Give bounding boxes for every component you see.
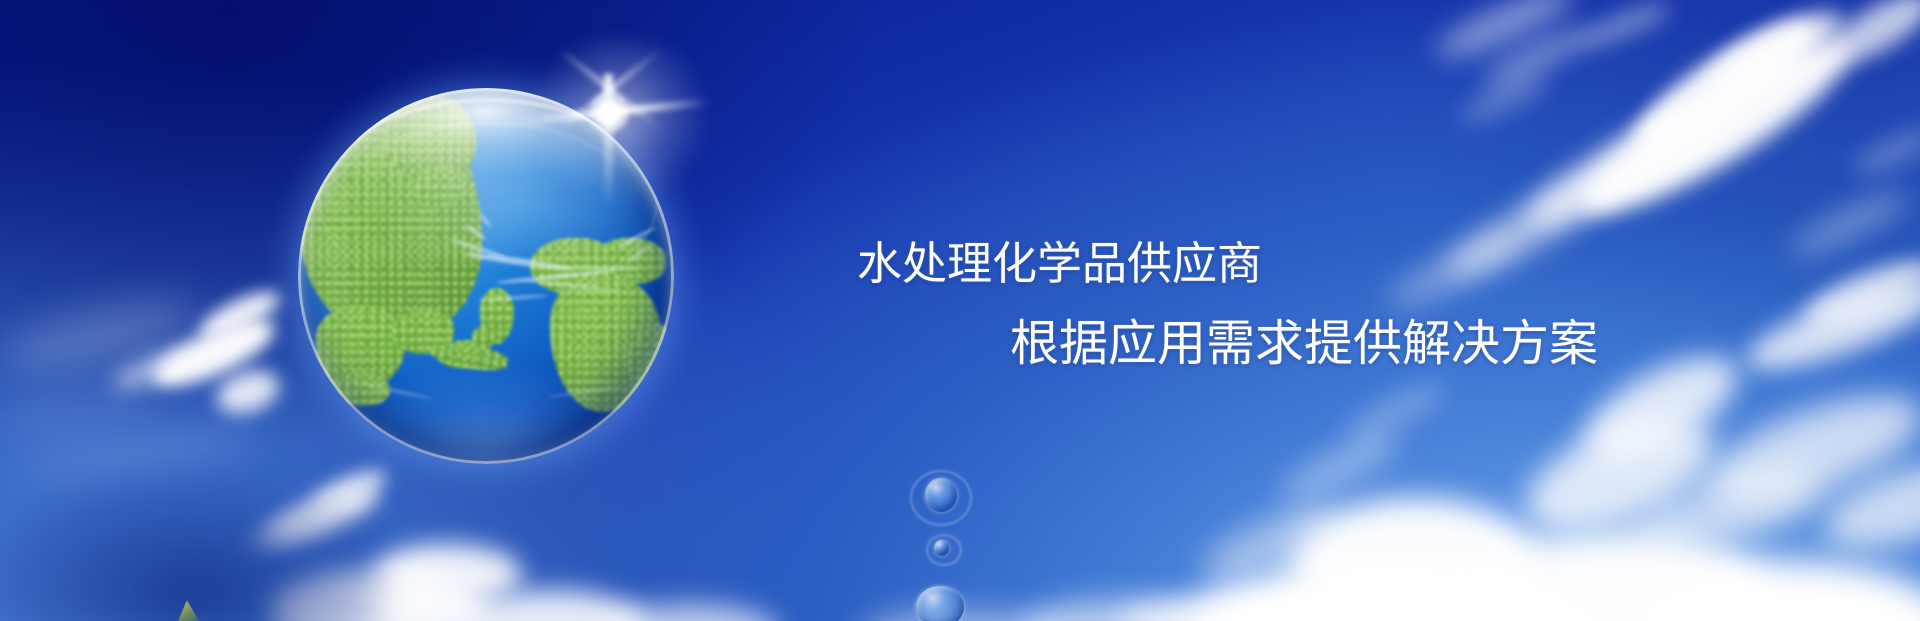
cloud-bottom-right xyxy=(1630,560,1920,621)
cloud-upper-right xyxy=(1515,86,1738,243)
cloud-wisp xyxy=(1456,69,1553,128)
cloud-upper-right xyxy=(1438,162,1624,289)
cloud-wisp xyxy=(1850,122,1920,180)
cloud-bottom-right xyxy=(1290,498,1540,621)
cloud-bottom-right xyxy=(1180,560,1600,621)
cloud-bottom-right xyxy=(1264,596,1444,621)
cloud-bottom-right xyxy=(1380,600,1640,621)
sun-flare-core xyxy=(588,92,630,134)
cloud-upper-right xyxy=(1622,3,1829,164)
cloud-bottom-left xyxy=(1020,600,1210,621)
cloud-bottom-center xyxy=(1340,374,1450,450)
water-droplet-large xyxy=(925,478,957,512)
cloud-bottom-center xyxy=(1193,491,1349,594)
glass-globe xyxy=(298,88,674,464)
cloud-bottom-center xyxy=(1122,596,1312,621)
cloud-upper-right xyxy=(1563,15,1867,238)
cloud-wisp xyxy=(1784,183,1913,265)
cloud-right-mid xyxy=(1798,247,1920,337)
cloud-right-mid xyxy=(1737,266,1920,387)
cloud-bottom-left xyxy=(600,604,780,621)
cloud-wisp xyxy=(1430,0,1581,69)
cloud-left-wisp xyxy=(109,343,197,396)
water-droplet-small xyxy=(934,540,949,556)
cloud-upper-right xyxy=(1816,0,1920,77)
hero-banner: 水处理化学品供应商 根据应用需求提供解决方案 xyxy=(0,0,1920,621)
cloud-bottom-right xyxy=(1814,444,1920,566)
headline-line-2: 根据应用需求提供解决方案 xyxy=(1010,320,1598,369)
cloud-left-haze xyxy=(0,379,171,434)
headline-line-1: 水处理化学品供应商 xyxy=(857,241,1262,286)
cloud-wisp xyxy=(1574,0,1675,54)
cloud-bottom-right xyxy=(1693,373,1920,527)
water-droplet-bottom xyxy=(916,586,964,621)
cloud-bottom-left xyxy=(372,544,522,604)
cloud-bottom-right xyxy=(1510,396,1729,554)
cloud-left-wisp xyxy=(211,363,284,421)
dark-haze xyxy=(0,470,380,621)
cloud-bottom-center xyxy=(1273,423,1406,512)
cloud-wisp xyxy=(1478,19,1597,95)
cloud-left-haze xyxy=(0,287,203,384)
cloud-bottom-right xyxy=(1456,530,1776,621)
cloud-upper-right xyxy=(1381,223,1528,318)
cloud-bottom-left xyxy=(456,590,646,621)
cloud-upper-right xyxy=(1698,0,1851,107)
cloud-left-wisp xyxy=(145,307,283,399)
cloud-bottom-right xyxy=(1623,454,1833,571)
